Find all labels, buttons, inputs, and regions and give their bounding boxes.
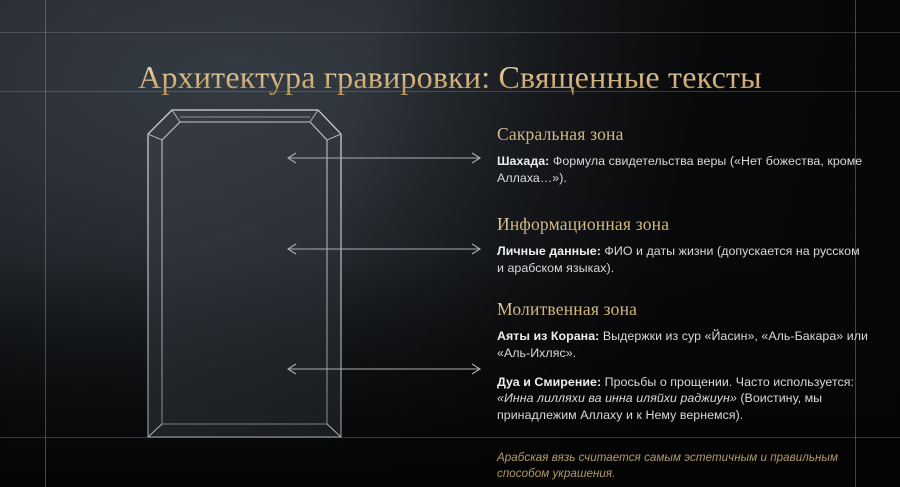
zone-heading: Молитвенная зона	[497, 299, 869, 320]
paragraph-lead: Дуа и Смирение:	[497, 375, 601, 389]
zone-block-prayer: Молитвенная зона Аяты из Корана: Выдержк…	[497, 299, 869, 424]
zone-body: Шахада: Формула свидетельства веры («Нет…	[497, 153, 869, 187]
paragraph-lead: Личные данные:	[497, 244, 601, 258]
zone-body: Аяты из Корана: Выдержки из сур «Йасин»,…	[497, 328, 869, 424]
slide-canvas: Архитектура гравировки: Священные тексты	[0, 0, 900, 487]
zone-block-information: Информационная зона Личные данные: ФИО и…	[497, 214, 869, 277]
paragraph-text: Формула свидетельства веры («Нет божеств…	[497, 154, 862, 185]
paragraph-quote: «Инна лилляхи ва инна иляйхи раджиун»	[497, 391, 737, 405]
zone-paragraph: Личные данные: ФИО и даты жизни (допуска…	[497, 243, 869, 277]
paragraph-lead: Аяты из Корана:	[497, 329, 599, 343]
zone-paragraph: Шахада: Формула свидетельства веры («Нет…	[497, 153, 869, 187]
zone-block-sacred: Сакральная зона Шахада: Формула свидетел…	[497, 124, 869, 187]
paragraph-text-before: Просьбы о прощении. Часто используется:	[601, 375, 854, 389]
footnote: Арабская вязь считается самым эстетичным…	[497, 450, 869, 481]
zone-heading: Информационная зона	[497, 214, 869, 235]
monument-body	[148, 110, 341, 437]
zone-paragraph: Дуа и Смирение: Просьбы о прощении. Част…	[497, 374, 869, 424]
zone-heading: Сакральная зона	[497, 124, 869, 145]
paragraph-lead: Шахада:	[497, 154, 549, 168]
zone-body: Личные данные: ФИО и даты жизни (допуска…	[497, 243, 869, 277]
zone-paragraph: Аяты из Корана: Выдержки из сур «Йасин»,…	[497, 328, 869, 362]
